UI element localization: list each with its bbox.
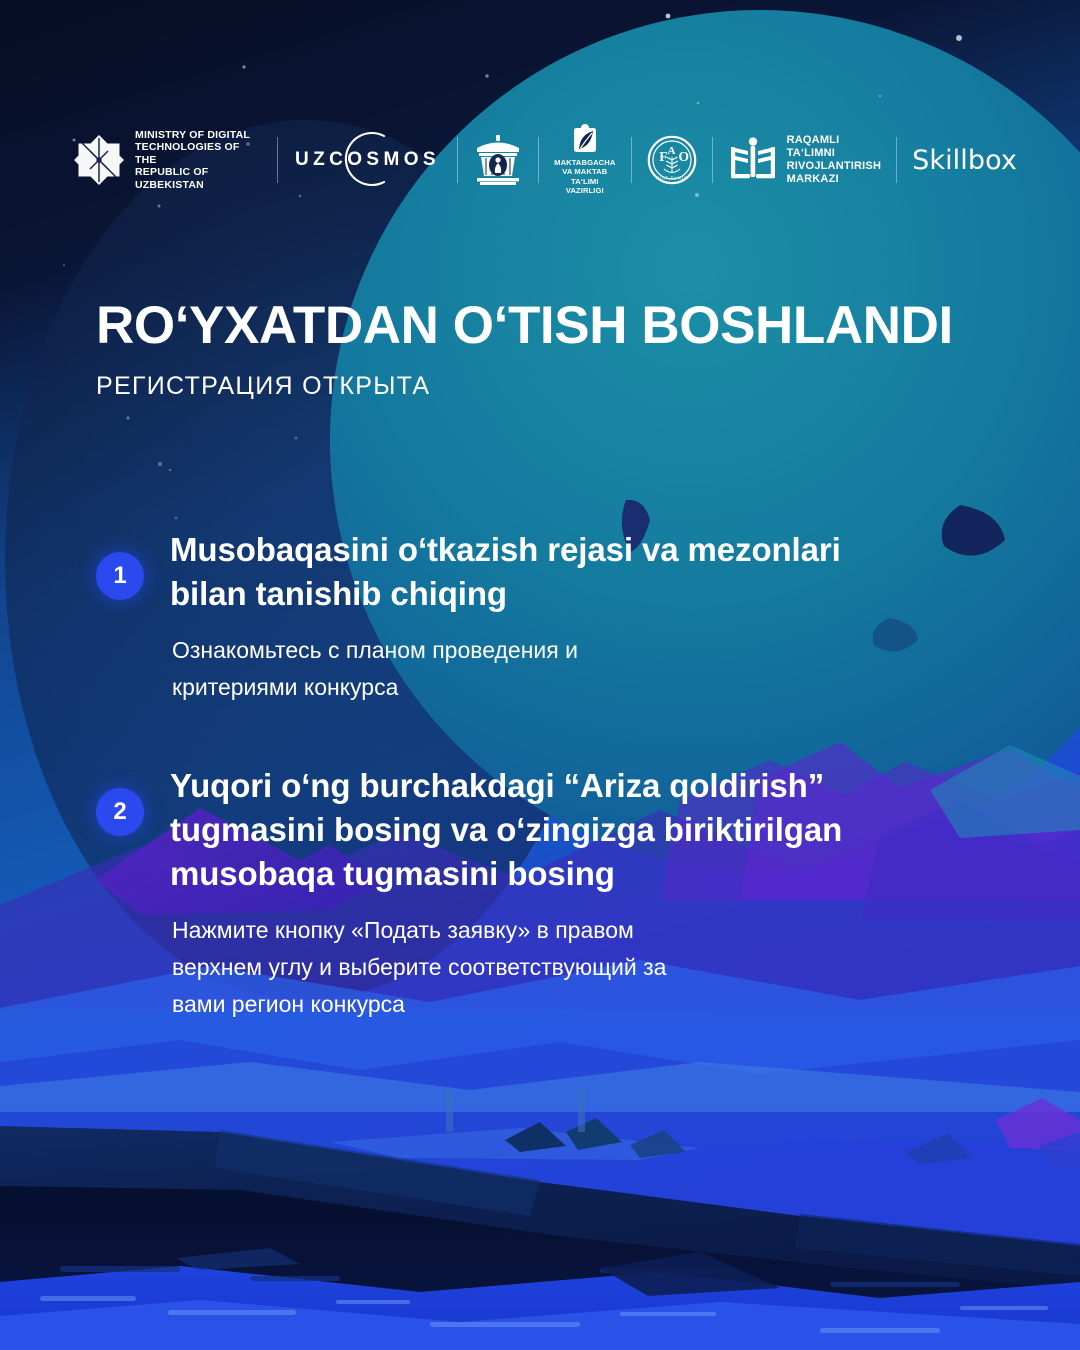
logo-divider-4 xyxy=(631,137,632,183)
uzbek-star-icon xyxy=(72,133,126,187)
step-desc-line-2: верхнем углу и выберите соответствующий … xyxy=(172,949,996,986)
logo-line-2: RIVOJLANTIRISH xyxy=(787,160,881,173)
logo-divider-5 xyxy=(712,137,713,183)
logo-line-1: MINISTRY OF DIGITAL xyxy=(135,129,262,142)
steps-list: 1 Musobaqasini o‘tkazish rejasi va mezon… xyxy=(96,528,996,1081)
page-subtitle: РЕГИСТРАЦИЯ ОТКРЫТА xyxy=(96,372,1016,401)
svg-text:F: F xyxy=(659,149,667,164)
logo-skillbox: Skillbox xyxy=(912,122,1017,198)
open-book-person-icon xyxy=(728,135,778,185)
logo-skillbox-wordmark: Skillbox xyxy=(912,145,1017,176)
logo-divider-6 xyxy=(896,137,897,183)
page-title: RO‘YXATDAN O‘TISH BOSHLANDI xyxy=(96,296,1016,356)
logo-divider-2 xyxy=(457,137,458,183)
step-desc-line-1: Ознакомьтесь с планом проведения и xyxy=(172,632,996,669)
poster-canvas: MINISTRY OF DIGITAL TECHNOLOGIES OF THE … xyxy=(0,0,1080,1350)
step-title-line-1: Musobaqasini o‘tkazish rejasi va mezonla… xyxy=(170,528,996,572)
logo-ministry-label: MINISTRY OF DIGITAL TECHNOLOGIES OF THE … xyxy=(135,129,262,192)
fao-emblem-icon: F A O FIAT PANIS xyxy=(647,135,697,185)
logo-line-3: TA‘LIMI VAZIRLIGI xyxy=(554,177,616,196)
list-item: 2 Yuqori o‘ng burchakdagi “Ariza qoldiri… xyxy=(96,764,996,1023)
logo-line-2: TECHNOLOGIES OF THE xyxy=(135,141,262,166)
step-desc-line-3: вами регион конкурса xyxy=(172,986,996,1023)
logo-fao: F A O FIAT PANIS xyxy=(647,122,697,198)
logo-line-1: RAQAMLI TA‘LIMNI xyxy=(787,134,881,160)
logo-line-2: VA MAKTAB xyxy=(554,167,616,176)
logo-line-3: REPUBLIC OF UZBEKISTAN xyxy=(135,166,262,191)
svg-text:O: O xyxy=(678,149,689,164)
step-number-badge: 1 xyxy=(96,552,144,600)
step-description: Нажмите кнопку «Подать заявку» в правом … xyxy=(170,912,996,1023)
svg-text:A: A xyxy=(667,145,675,157)
step-desc-line-2: критериями конкурса xyxy=(172,669,996,706)
step-description: Ознакомьтесь с планом проведения и крите… xyxy=(170,632,996,706)
logo-line-1: MAKTABGACHA xyxy=(554,158,616,167)
logo-ministry-digital-technologies: MINISTRY OF DIGITAL TECHNOLOGIES OF THE … xyxy=(72,122,262,198)
logo-preschool-label: MAKTABGACHA VA MAKTAB TA‘LIMI VAZIRLIGI xyxy=(554,158,616,196)
logo-divider-3 xyxy=(538,137,539,183)
step-title-line-1: Yuqori o‘ng burchakdagi “Ariza qoldirish… xyxy=(170,764,996,808)
step-title-line-2: bilan tanishib chiqing xyxy=(170,572,996,616)
book-leaf-icon xyxy=(570,122,600,154)
logo-preschool-ministry: MAKTABGACHA VA MAKTAB TA‘LIMI VAZIRLIGI xyxy=(554,122,616,198)
logo-digital-education-center: RAQAMLI TA‘LIMNI RIVOJLANTIRISH MARKAZI xyxy=(728,122,881,198)
state-emblem-icon xyxy=(473,134,523,186)
logo-state-emblem xyxy=(473,122,523,198)
step-number-badge: 2 xyxy=(96,788,144,836)
logo-rtrm-label: RAQAMLI TA‘LIMNI RIVOJLANTIRISH MARKAZI xyxy=(787,134,881,186)
list-item: 1 Musobaqasini o‘tkazish rejasi va mezon… xyxy=(96,528,996,706)
step-title-line-2: tugmasini bosing va o‘zingizga biriktiri… xyxy=(170,808,996,852)
headline-block: RO‘YXATDAN O‘TISH BOSHLANDI РЕГИСТРАЦИЯ … xyxy=(96,296,1016,401)
logo-line-3: MARKAZI xyxy=(787,173,881,186)
logo-divider-1 xyxy=(277,137,278,183)
partner-logo-bar: MINISTRY OF DIGITAL TECHNOLOGIES OF THE … xyxy=(72,122,1017,198)
step-title-line-3: musobaqa tugmasini bosing xyxy=(170,852,996,896)
step-title: Yuqori o‘ng burchakdagi “Ariza qoldirish… xyxy=(170,764,996,896)
step-title: Musobaqasini o‘tkazish rejasi va mezonla… xyxy=(170,528,996,616)
svg-text:FIAT PANIS: FIAT PANIS xyxy=(656,176,687,181)
step-desc-line-1: Нажмите кнопку «Подать заявку» в правом xyxy=(172,912,996,949)
logo-uzcosmos: UZCOSMOS xyxy=(293,122,442,198)
logo-uzcosmos-wordmark: UZCOSMOS xyxy=(295,149,440,171)
